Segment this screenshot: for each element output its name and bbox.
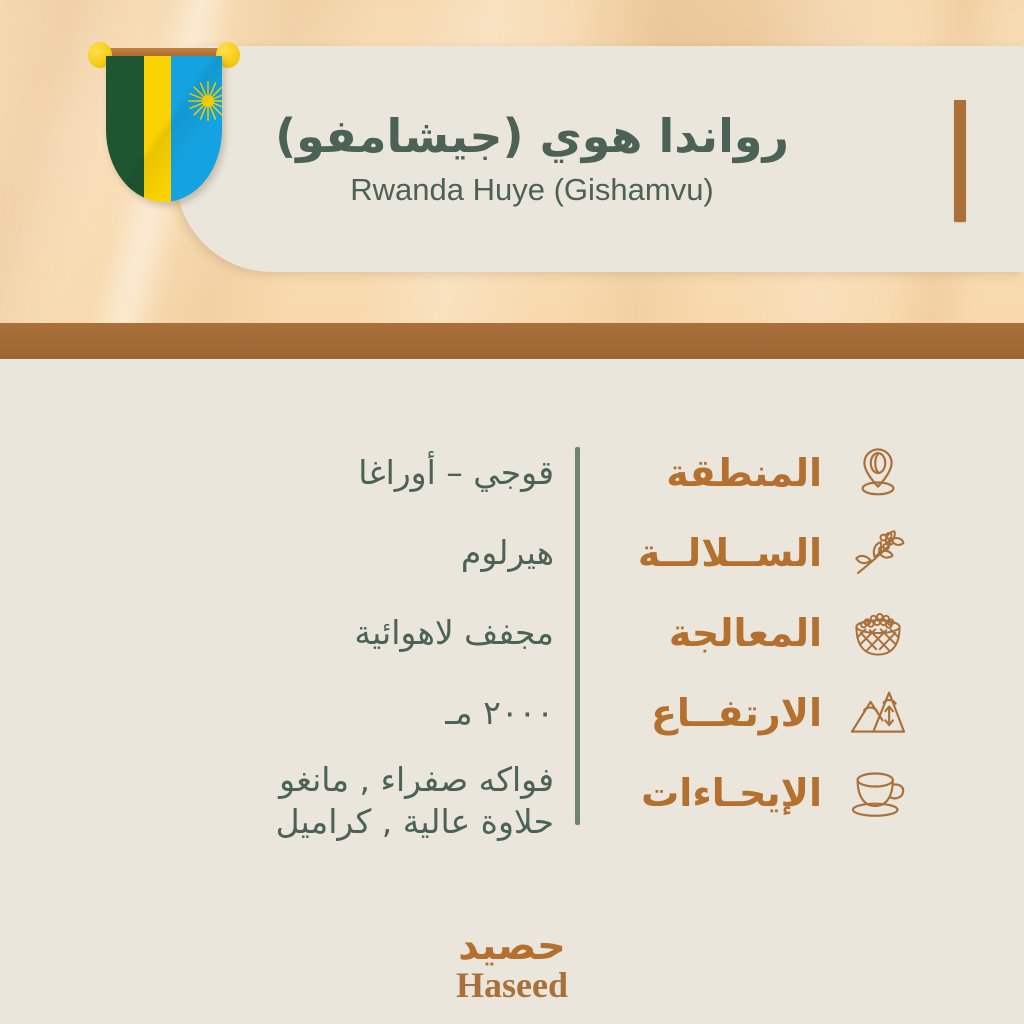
flag-stripe-yellow bbox=[144, 56, 171, 202]
icon-cell bbox=[836, 606, 920, 660]
coffee-basket-icon bbox=[849, 606, 907, 660]
spec-section: المنطقة قوجي – أوراغا bbox=[0, 359, 1024, 1024]
section-divider-band bbox=[0, 323, 1024, 359]
icon-cell bbox=[836, 444, 920, 502]
brand-logo: حصيد Haseed bbox=[0, 926, 1024, 1005]
label-cell: الســلالــة bbox=[580, 534, 836, 572]
flag-stripe-green bbox=[106, 56, 144, 202]
value-cell: هيرلوم bbox=[232, 532, 580, 574]
icon-cell bbox=[836, 687, 920, 739]
spec-value-altitude: ٢٠٠٠ مـ bbox=[232, 692, 554, 734]
brand-name-english: Haseed bbox=[456, 967, 568, 1005]
icon-cell bbox=[836, 524, 920, 582]
value-cell: فواكه صفراء , مانغو حلاوة عالية , كراميل bbox=[232, 753, 580, 871]
header-title-group: رواندا هوي (جيشامفو) Rwanda Huye (Gisham… bbox=[176, 46, 888, 272]
page-title-arabic: رواندا هوي (جيشامفو) bbox=[275, 110, 789, 163]
spec-row-notes: الإيحـاءات فواكه صفراء , مانغو حلاوة عال… bbox=[232, 753, 920, 871]
spec-label-processing: المعالجة bbox=[669, 614, 822, 652]
spec-label-altitude: الارتفــاع bbox=[651, 694, 822, 732]
brand-name-arabic: حصيد bbox=[458, 926, 566, 966]
spec-row-variety: الســلالــة هيرلوم bbox=[232, 513, 920, 593]
product-info-card: رواندا هوي (جيشامفو) Rwanda Huye (Gisham… bbox=[0, 0, 1024, 1024]
flag-stripe-blue bbox=[171, 56, 222, 202]
label-cell: الإيحـاءات bbox=[580, 753, 836, 833]
spec-label-notes: الإيحـاءات bbox=[641, 774, 822, 812]
spec-value-notes: فواكه صفراء , مانغو حلاوة عالية , كراميل bbox=[232, 759, 554, 842]
coffee-cup-icon bbox=[848, 767, 908, 819]
location-pin-coffee-bean-icon bbox=[849, 444, 907, 502]
page-title-english: Rwanda Huye (Gishamvu) bbox=[350, 172, 714, 208]
spec-label-region: المنطقة bbox=[666, 454, 822, 492]
spec-value-variety: هيرلوم bbox=[232, 532, 554, 574]
spec-value-region: قوجي – أوراغا bbox=[232, 452, 554, 494]
value-cell: ٢٠٠٠ مـ bbox=[232, 692, 580, 734]
icon-cell bbox=[836, 753, 920, 833]
flag-body bbox=[106, 56, 222, 202]
label-cell: المنطقة bbox=[580, 454, 836, 492]
spec-row-region: المنطقة قوجي – أوراغا bbox=[232, 433, 920, 513]
spec-value-notes-line2: حلاوة عالية , كراميل bbox=[232, 801, 554, 843]
spec-row-altitude: الارتفــاع ٢٠٠٠ مـ bbox=[232, 673, 920, 753]
value-cell: مجفف لاهوائية bbox=[232, 612, 580, 654]
sun-icon bbox=[185, 78, 222, 124]
spec-list: المنطقة قوجي – أوراغا bbox=[232, 433, 920, 871]
spec-value-notes-line1: فواكه صفراء , مانغو bbox=[232, 759, 554, 801]
label-cell: الارتفــاع bbox=[580, 694, 836, 732]
spec-label-variety: الســلالــة bbox=[638, 534, 822, 572]
mountain-altitude-icon bbox=[848, 687, 908, 739]
label-cell: المعالجة bbox=[580, 614, 836, 652]
spec-row-processing: المعالجة مجفف لاهوائية bbox=[232, 593, 920, 673]
header-title-card: رواندا هوي (جيشامفو) Rwanda Huye (Gisham… bbox=[176, 46, 1024, 272]
title-accent-bar bbox=[954, 100, 966, 222]
value-cell: قوجي – أوراغا bbox=[232, 452, 580, 494]
coffee-branch-icon bbox=[848, 524, 908, 582]
rwanda-flag-banner-icon bbox=[88, 42, 240, 210]
spec-value-processing: مجفف لاهوائية bbox=[232, 612, 554, 654]
